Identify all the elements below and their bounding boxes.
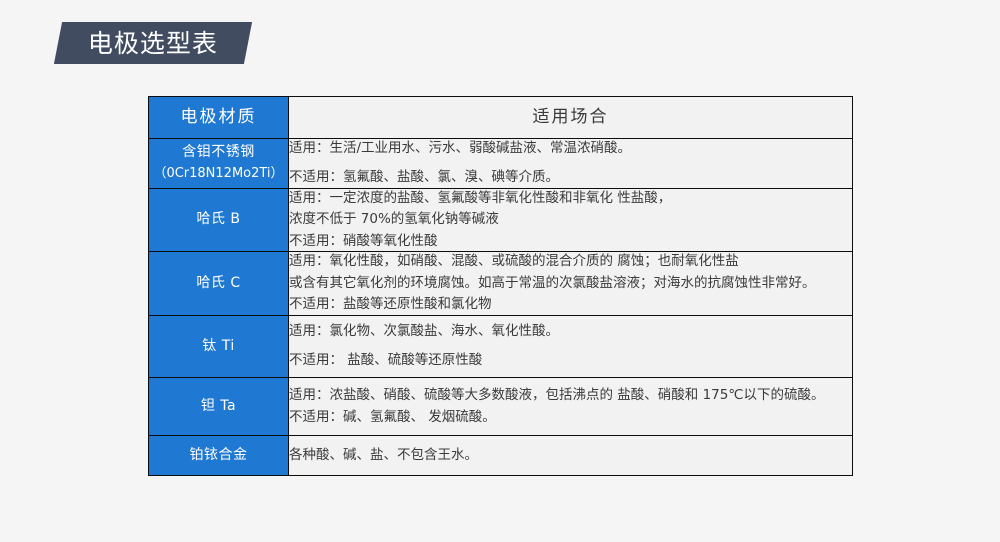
cell-material-name: 含钼不锈钢 （0Cr18N12Mo2Ti） xyxy=(149,138,289,188)
application-line: 不适用：碱、氢氟酸、 发烟硫酸。 xyxy=(289,408,852,428)
material-name: 哈氏 C xyxy=(196,275,240,291)
cell-application: 适用：一定浓度的盐酸、氢氟酸等非氧化性酸和非氧化 性盐酸， 浓度不低于 70%的… xyxy=(289,188,853,252)
material-name: 钽 Ta xyxy=(201,398,236,414)
application-line: 适用：氧化性酸，如硝酸、混酸、或硫酸的混合介质的 腐蚀；也耐氧化性盐 xyxy=(289,252,852,272)
cell-material-name: 钽 Ta xyxy=(149,378,289,436)
table-row: 铂铱合金 各种酸、碱、盐、不包含王水。 xyxy=(149,436,853,476)
page-title: 电极选型表 xyxy=(88,31,218,56)
column-header-application: 适用场合 xyxy=(289,97,853,139)
material-name: 含钼不锈钢 xyxy=(182,144,255,160)
table-row: 哈氏 C 适用：氧化性酸，如硝酸、混酸、或硫酸的混合介质的 腐蚀；也耐氧化性盐 … xyxy=(149,252,853,316)
application-line: 适用：一定浓度的盐酸、氢氟酸等非氧化性酸和非氧化 性盐酸， xyxy=(289,189,852,209)
table-row: 钛 Ti 适用：氯化物、次氯酸盐、海水、氧化性酸。 不适用： 盐酸、硫酸等还原性… xyxy=(149,316,853,378)
page-title-banner: 电极选型表 xyxy=(54,22,252,64)
application-line: 或含有其它氧化剂的环境腐蚀。如高于常温的次氯酸盐溶液；对海水的抗腐蚀性非常好。 xyxy=(289,274,852,294)
table-row: 钽 Ta 适用：浓盐酸、硝酸、硫酸等大多数酸液，包括沸点的 盐酸、硝酸和 175… xyxy=(149,378,853,436)
electrode-selection-table-wrapper: 电极材质 适用场合 含钼不锈钢 （0Cr18N12Mo2Ti） 适用：生活/工业… xyxy=(148,96,852,476)
application-line: 适用：生活/工业用水、污水、弱酸碱盐液、常温浓硝酸。 xyxy=(289,139,852,159)
application-line: 适用：浓盐酸、硝酸、硫酸等大多数酸液，包括沸点的 盐酸、硝酸和 175℃以下的硫… xyxy=(289,386,852,406)
material-name: 哈氏 B xyxy=(196,211,240,227)
cell-material-name: 哈氏 B xyxy=(149,188,289,252)
application-line: 浓度不低于 70%的氢氧化钠等碱液 xyxy=(289,210,852,230)
column-header-material: 电极材质 xyxy=(149,97,289,139)
cell-application: 适用：生活/工业用水、污水、弱酸碱盐液、常温浓硝酸。 不适用：氢氟酸、盐酸、氯、… xyxy=(289,138,853,188)
application-line: 不适用： 盐酸、硫酸等还原性酸 xyxy=(289,351,852,371)
cell-application: 适用：氧化性酸，如硝酸、混酸、或硫酸的混合介质的 腐蚀；也耐氧化性盐 或含有其它… xyxy=(289,252,853,316)
table-body: 电极材质 适用场合 含钼不锈钢 （0Cr18N12Mo2Ti） 适用：生活/工业… xyxy=(149,97,853,476)
cell-material-name: 铂铱合金 xyxy=(149,436,289,476)
cell-material-name: 钛 Ti xyxy=(149,316,289,378)
electrode-selection-table: 电极材质 适用场合 含钼不锈钢 （0Cr18N12Mo2Ti） 适用：生活/工业… xyxy=(148,96,853,476)
application-line: 不适用：盐酸等还原性酸和氯化物 xyxy=(289,295,852,315)
material-name: 铂铱合金 xyxy=(190,447,248,463)
cell-application: 适用：氯化物、次氯酸盐、海水、氧化性酸。 不适用： 盐酸、硫酸等还原性酸 xyxy=(289,316,853,378)
cell-application: 适用：浓盐酸、硝酸、硫酸等大多数酸液，包括沸点的 盐酸、硝酸和 175℃以下的硫… xyxy=(289,378,853,436)
application-line: 不适用：硝酸等氧化性酸 xyxy=(289,232,852,252)
application-line: 不适用：氢氟酸、盐酸、氯、溴、碘等介质。 xyxy=(289,168,852,188)
material-name: 钛 Ti xyxy=(202,338,234,354)
cell-material-name: 哈氏 C xyxy=(149,252,289,316)
cell-application: 各种酸、碱、盐、不包含王水。 xyxy=(289,436,853,476)
table-row: 含钼不锈钢 （0Cr18N12Mo2Ti） 适用：生活/工业用水、污水、弱酸碱盐… xyxy=(149,138,853,188)
application-line: 各种酸、碱、盐、不包含王水。 xyxy=(289,446,852,466)
table-row: 哈氏 B 适用：一定浓度的盐酸、氢氟酸等非氧化性酸和非氧化 性盐酸， 浓度不低于… xyxy=(149,188,853,252)
table-header-row: 电极材质 适用场合 xyxy=(149,97,853,139)
application-line: 适用：氯化物、次氯酸盐、海水、氧化性酸。 xyxy=(289,322,852,342)
material-grade-code: （0Cr18N12Mo2Ti） xyxy=(149,164,288,184)
